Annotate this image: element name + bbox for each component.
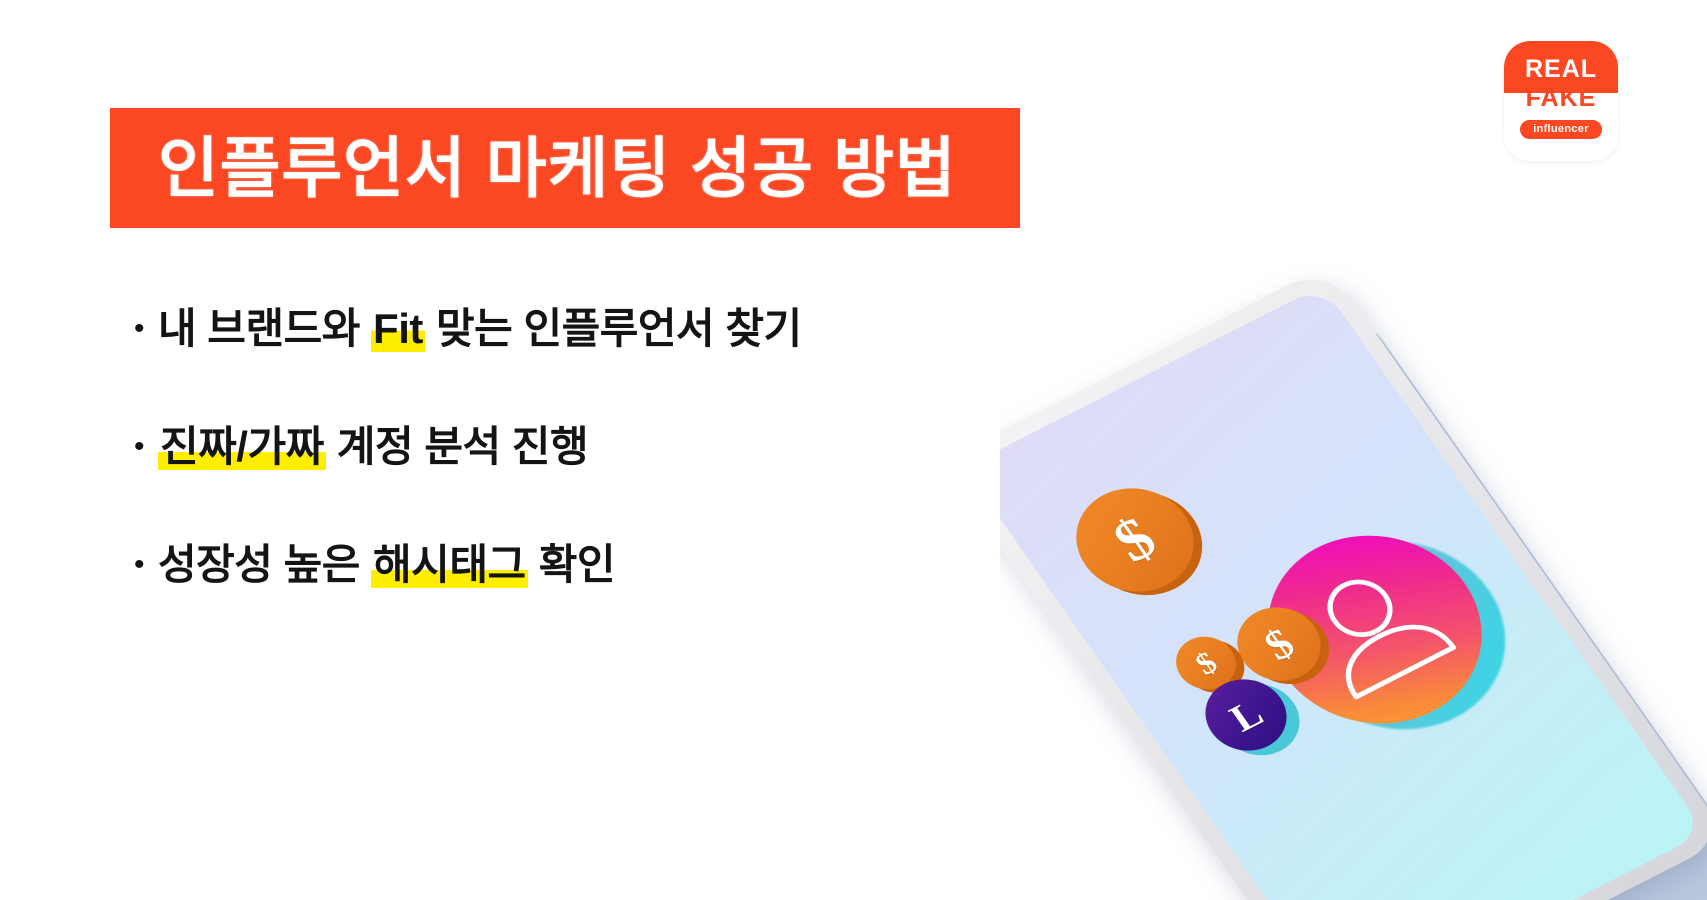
letter-l-icon: L xyxy=(1221,690,1272,741)
bullet-1-highlight: Fit xyxy=(371,305,425,352)
list-item: • 내 브랜드와 Fit 맞는 인플루언서 찾기 xyxy=(128,300,1028,418)
bullet-text-3: 성장성 높은 해시태그 확인 xyxy=(158,536,615,594)
bullet-marker-icon: • xyxy=(128,536,158,594)
dollar-icon: $ xyxy=(1254,618,1303,670)
bullet-marker-icon: • xyxy=(128,418,158,476)
phone-illustration: $ $ $ L xyxy=(1000,190,1707,900)
logo-text-fake: FAKE xyxy=(1504,86,1618,111)
bullet-2-suffix: 계정 분석 진행 xyxy=(326,423,588,470)
bullet-list: • 내 브랜드와 Fit 맞는 인플루언서 찾기 • 진짜/가짜 계정 분석 진… xyxy=(128,300,1028,654)
list-item: • 진짜/가짜 계정 분석 진행 xyxy=(128,418,1028,536)
bullet-3-suffix: 확인 xyxy=(528,541,615,588)
dollar-icon: $ xyxy=(1101,504,1170,576)
bullet-1-suffix: 맞는 인플루언서 찾기 xyxy=(425,305,802,352)
bullet-marker-icon: • xyxy=(128,300,158,358)
logo-text-real: REAL xyxy=(1504,57,1618,82)
bullet-1-prefix: 내 브랜드와 xyxy=(158,305,371,352)
title-banner: 인플루언서 마케팅 성공 방법 xyxy=(110,108,1020,228)
slide-canvas: 인플루언서 마케팅 성공 방법 • 내 브랜드와 Fit 맞는 인플루언서 찾기… xyxy=(0,0,1707,900)
logo-text-influencer: influencer xyxy=(1504,123,1618,136)
page-title: 인플루언서 마케팅 성공 방법 xyxy=(158,135,957,201)
bullet-3-highlight: 해시태그 xyxy=(371,541,528,588)
bullet-3-prefix: 성장성 높은 xyxy=(158,541,371,588)
bullet-2-highlight: 진짜/가짜 xyxy=(158,423,326,470)
brand-logo: REAL FAKE influencer xyxy=(1504,41,1618,161)
dollar-icon: $ xyxy=(1188,644,1224,682)
bullet-text-2: 진짜/가짜 계정 분석 진행 xyxy=(158,418,588,476)
bullet-text-1: 내 브랜드와 Fit 맞는 인플루언서 찾기 xyxy=(158,300,802,358)
list-item: • 성장성 높은 해시태그 확인 xyxy=(128,536,1028,654)
